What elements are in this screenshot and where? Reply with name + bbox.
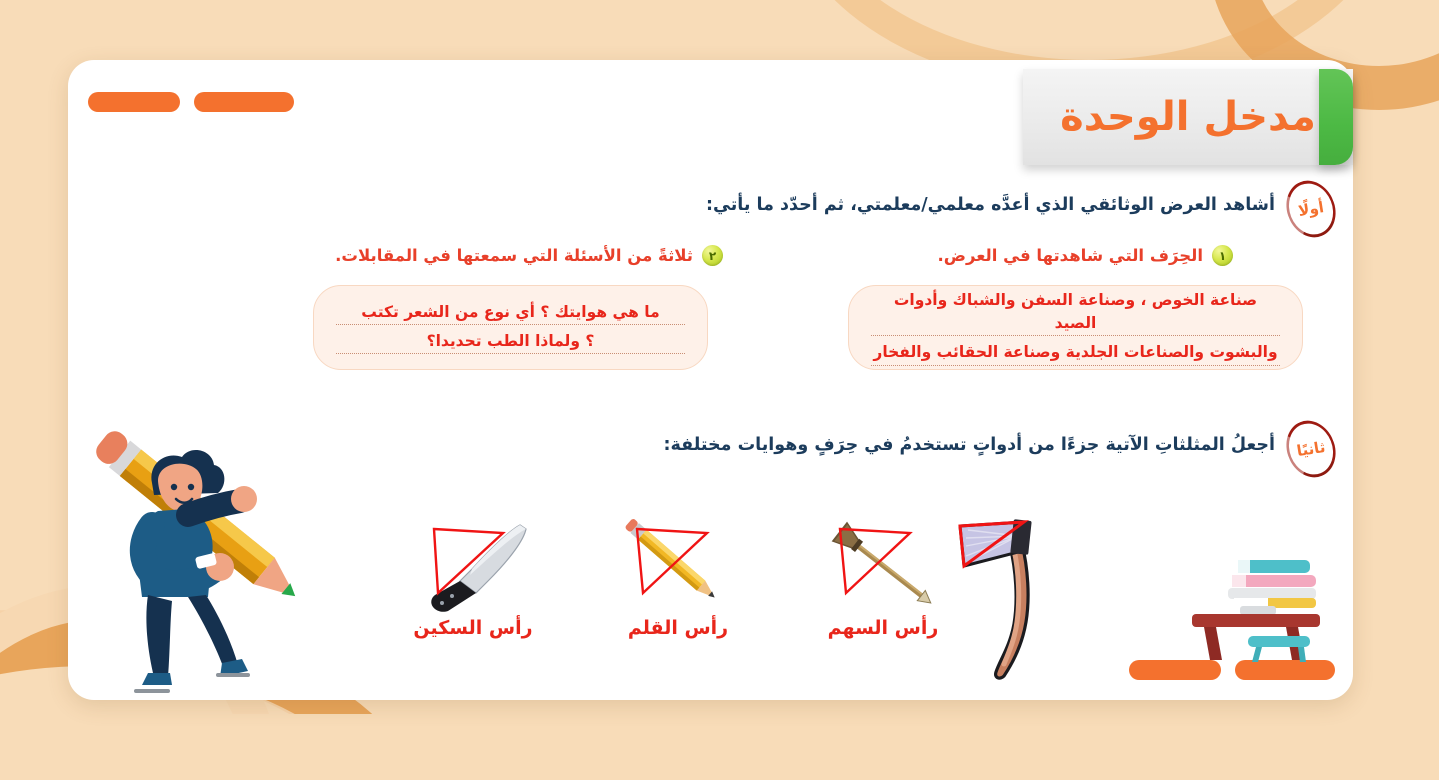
ordinal-label: أولًا [1278,176,1344,242]
sub-item-1-label: الحِرَف التي شاهدتها في العرض. [938,246,1204,265]
item-number-badge: ١ [1212,245,1233,266]
knife-icon [408,515,538,615]
background-bottom-band [0,714,1439,780]
unit-title-ribbon: مدخل الوحدة [1023,69,1353,165]
tool-label-arrow: رأس السهم [818,617,948,639]
section-1-prompt: أشاهد العرض الوثائقي الذي أعدَّه معلمي/م… [706,195,1275,215]
student-carrying-pencil-illustration [92,415,322,709]
tool-label-pencil: رأس القلم [613,617,743,639]
ribbon-green-tab [1319,69,1353,165]
pencil-icon [613,515,743,615]
sub-item-2-label: ثلاثةً من الأسئلة التي سمعتها في المقابل… [335,246,693,265]
ordinal-badge-first: أولًا [1282,180,1340,238]
answer-box-2[interactable]: ما هي هوايتك ؟ أي نوع من الشعر تكتب ؟ ول… [313,285,708,370]
orange-pill [194,92,294,112]
tool-label-knife: رأس السكين [408,617,538,639]
page-root: مدخل الوحدة أولًا أشاهد العرض الوثائقي ا… [0,0,1439,780]
sub-item-2: ٢ ثلاثةً من الأسئلة التي سمعتها في المقا… [335,245,723,266]
answer-line: والبشوت والصناعات الجلدية وصناعة الحقائب… [871,341,1280,365]
desk-with-books-illustration [1178,542,1348,666]
answer-line: صناعة الخوص ، وصناعة السفن والشباك وأدوا… [871,289,1280,336]
ordinal-badge-second: ثانيًا [1282,420,1340,478]
arrow-icon [818,515,948,615]
page-title: مدخل الوحدة [1060,94,1316,140]
item-number-badge: ٢ [702,245,723,266]
tool-item-axe[interactable] [938,510,1083,680]
ordinal-label: ثانيًا [1278,416,1344,482]
axe-icon [938,510,1083,680]
answer-box-1[interactable]: صناعة الخوص ، وصناعة السفن والشباك وأدوا… [848,285,1303,370]
answer-line: ما هي هوايتك ؟ أي نوع من الشعر تكتب [336,301,685,325]
tool-item-pencil[interactable]: رأس القلم [613,515,743,615]
tool-item-knife[interactable]: رأس السكين [408,515,538,615]
orange-pill [88,92,180,112]
section-2-prompt: أجعلُ المثلثاتِ الآتية جزءًا من أدواتٍ ت… [664,435,1275,455]
worksheet-card: مدخل الوحدة أولًا أشاهد العرض الوثائقي ا… [68,60,1353,700]
decorative-pills-top-left [88,92,294,112]
sub-item-1: ١ الحِرَف التي شاهدتها في العرض. [938,245,1234,266]
answer-line: ؟ ولماذا الطب تحديدا؟ [336,330,685,354]
tool-item-arrow[interactable]: رأس السهم [818,515,948,615]
